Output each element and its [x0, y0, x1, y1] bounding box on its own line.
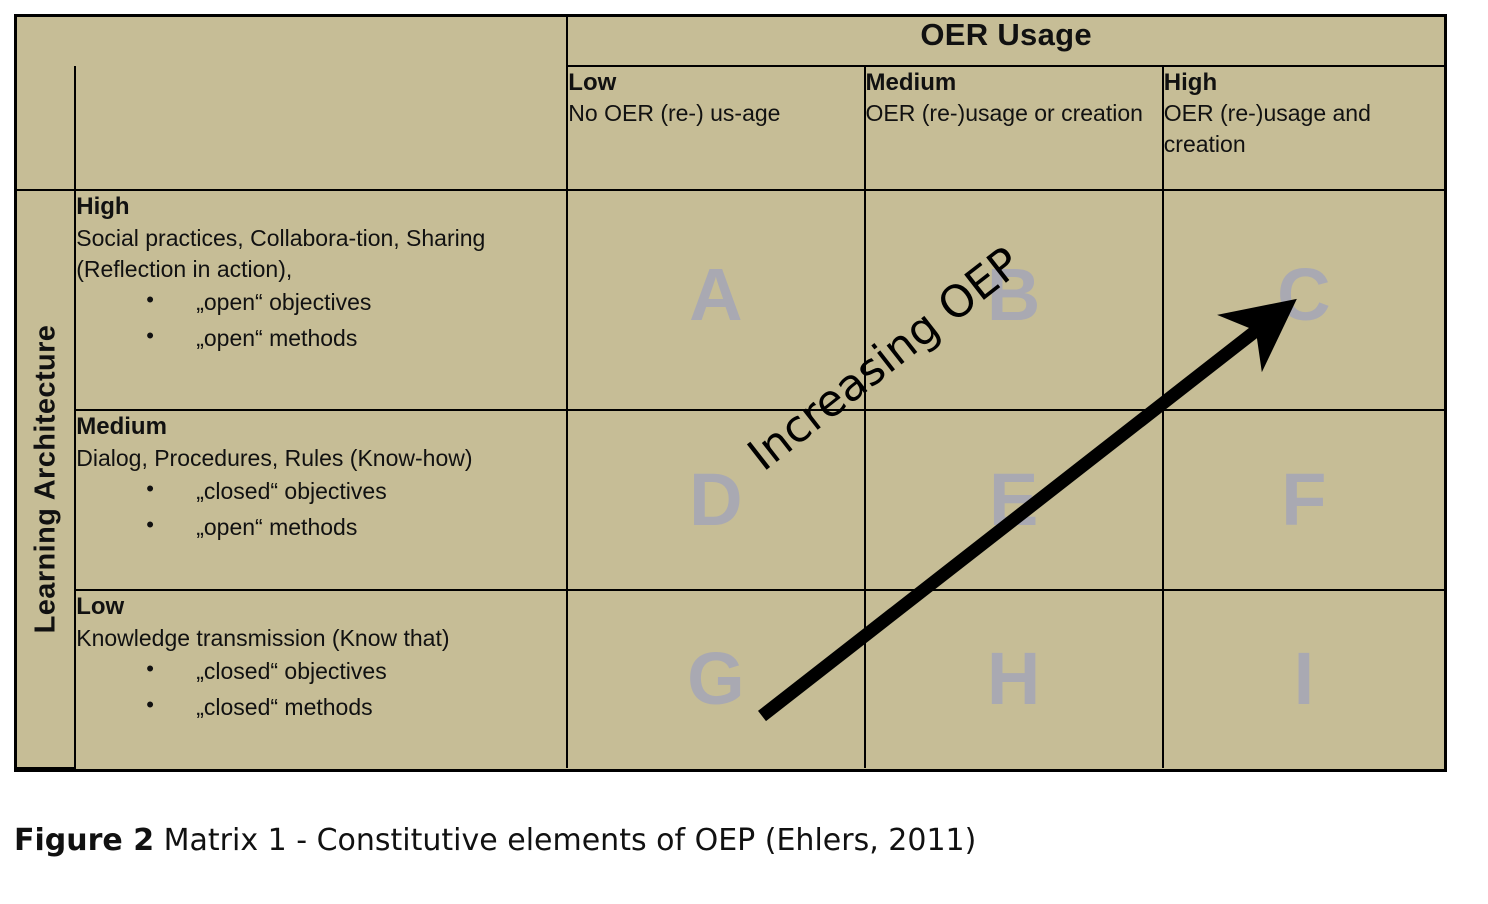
matrix-cell-f[interactable]: F — [1163, 410, 1444, 590]
matrix-cell-b[interactable]: B — [865, 190, 1163, 410]
header-row-column-levels: Low No OER (re-) us-age Medium OER (re-)… — [17, 66, 1444, 190]
row-header-low-level: Low — [76, 591, 566, 623]
column-header-medium-desc: OER (re-)usage or creation — [866, 98, 1162, 128]
row-header-high-level: High — [76, 191, 566, 223]
corner-blank-2 — [75, 17, 567, 66]
column-axis-title: OER Usage — [567, 17, 1444, 66]
column-header-high-desc: OER (re-)usage and creation — [1164, 98, 1444, 159]
column-header-medium-level: Medium — [866, 67, 1162, 99]
corner-blank-1 — [17, 17, 75, 66]
row-header-medium-desc: Dialog, Procedures, Rules (Know-how) — [76, 443, 566, 474]
column-header-low-desc: No OER (re-) us-age — [568, 98, 863, 128]
list-item: „open“ objectives — [76, 285, 566, 321]
matrix-cell-e-label: E — [989, 463, 1038, 537]
list-item: „closed“ objectives — [76, 654, 566, 690]
matrix-grid: OER Usage Low No OER (re-) us-age Medium… — [17, 17, 1444, 769]
oep-matrix-table: OER Usage Low No OER (re-) us-age Medium… — [14, 14, 1447, 772]
header-row-axis-title: OER Usage — [17, 17, 1444, 66]
column-header-low: Low No OER (re-) us-age — [567, 66, 864, 190]
matrix-cell-i[interactable]: I — [1163, 590, 1444, 768]
matrix-cell-g[interactable]: G — [567, 590, 864, 768]
corner-blank-4 — [75, 66, 567, 190]
column-header-high-level: High — [1164, 67, 1444, 99]
column-header-high: High OER (re-)usage and creation — [1163, 66, 1444, 190]
corner-blank-3 — [17, 66, 75, 190]
list-item: „open“ methods — [76, 510, 566, 546]
matrix-cell-f-label: F — [1281, 463, 1326, 537]
matrix-cell-d-label: D — [689, 463, 742, 537]
row-header-low-desc: Knowledge transmission (Know that) — [76, 623, 566, 654]
matrix-cell-i-label: I — [1294, 642, 1315, 716]
row-header-high-bullets: „open“ objectives „open“ methods — [76, 285, 566, 356]
row-axis-title: Learning Architecture — [29, 324, 62, 633]
list-item: „open“ methods — [76, 321, 566, 357]
matrix-cell-c-label: C — [1277, 258, 1330, 332]
figure-container: OER Usage Low No OER (re-) us-age Medium… — [0, 0, 1488, 904]
row-header-low-bullets: „closed“ objectives „closed“ methods — [76, 654, 566, 725]
figure-caption-text: Matrix 1 - Constitutive elements of OEP … — [154, 823, 976, 858]
figure-number: Figure 2 — [14, 823, 154, 858]
matrix-cell-a-label: A — [689, 258, 742, 332]
table-row-low: Low Knowledge transmission (Know that) „… — [17, 590, 1444, 768]
matrix-cell-h-label: H — [987, 642, 1040, 716]
row-header-medium-bullets: „closed“ objectives „open“ methods — [76, 474, 566, 545]
row-axis-title-cell: Learning Architecture — [17, 190, 75, 768]
row-header-high-desc: Social practices, Collabora-tion, Sharin… — [76, 223, 566, 285]
row-header-low: Low Knowledge transmission (Know that) „… — [75, 590, 567, 768]
row-header-medium: Medium Dialog, Procedures, Rules (Know-h… — [75, 410, 567, 590]
matrix-cell-c[interactable]: C — [1163, 190, 1444, 410]
matrix-cell-h[interactable]: H — [865, 590, 1163, 768]
matrix-cell-g-label: G — [687, 642, 745, 716]
list-item: „closed“ methods — [76, 690, 566, 726]
column-header-medium: Medium OER (re-)usage or creation — [865, 66, 1163, 190]
figure-caption: Figure 2 Matrix 1 - Constitutive element… — [14, 823, 976, 858]
row-header-medium-level: Medium — [76, 411, 566, 443]
matrix-cell-e[interactable]: E — [865, 410, 1163, 590]
column-header-low-level: Low — [568, 67, 863, 99]
list-item: „closed“ objectives — [76, 474, 566, 510]
table-row-medium: Medium Dialog, Procedures, Rules (Know-h… — [17, 410, 1444, 590]
table-row-high: Learning Architecture High Social practi… — [17, 190, 1444, 410]
row-header-high: High Social practices, Collabora-tion, S… — [75, 190, 567, 410]
